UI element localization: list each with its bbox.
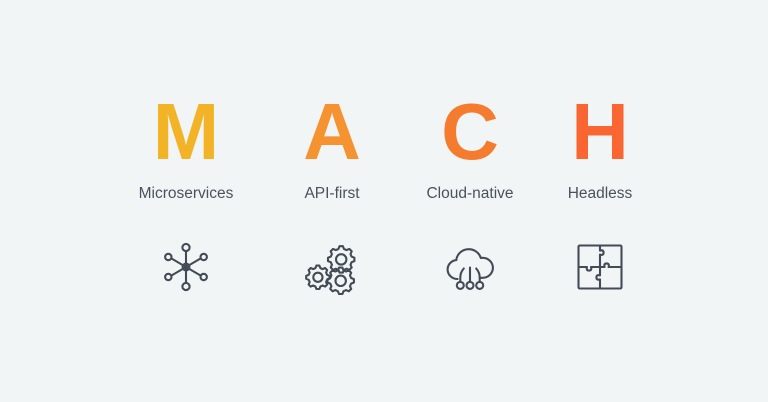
icon-api-first <box>301 236 363 298</box>
pillar-microservices: M Microservices <box>117 0 255 298</box>
pillar-columns: M Microservices <box>0 0 768 402</box>
pillar-letter-a: A <box>303 86 361 178</box>
letter-glyph-c: C <box>441 92 499 172</box>
letter-glyph-a: A <box>303 92 361 172</box>
cloud-nodes-icon <box>441 238 499 296</box>
pillar-api-first: A API-first <box>263 0 401 298</box>
pillar-letter-c: C <box>441 86 499 178</box>
mach-infographic: M Microservices <box>0 0 768 402</box>
pillar-label-headless: Headless <box>568 184 633 204</box>
puzzle-icon <box>571 238 629 296</box>
pillar-label-cloud-native: Cloud-native <box>426 184 513 204</box>
pillar-label-microservices: Microservices <box>139 184 234 204</box>
icon-cloud-native <box>439 236 501 298</box>
network-hub-icon <box>157 238 215 296</box>
pillar-label-api-first: API-first <box>304 184 359 204</box>
icon-headless <box>569 236 631 298</box>
pillar-cloud-native: C Cloud-native <box>401 0 539 298</box>
letter-glyph-m: M <box>153 92 220 172</box>
pillar-headless: H Headless <box>531 0 669 298</box>
pillar-letter-m: M <box>153 86 220 178</box>
gears-icon <box>303 238 361 296</box>
icon-microservices <box>155 236 217 298</box>
letter-glyph-h: H <box>571 92 629 172</box>
pillar-letter-h: H <box>571 86 629 178</box>
